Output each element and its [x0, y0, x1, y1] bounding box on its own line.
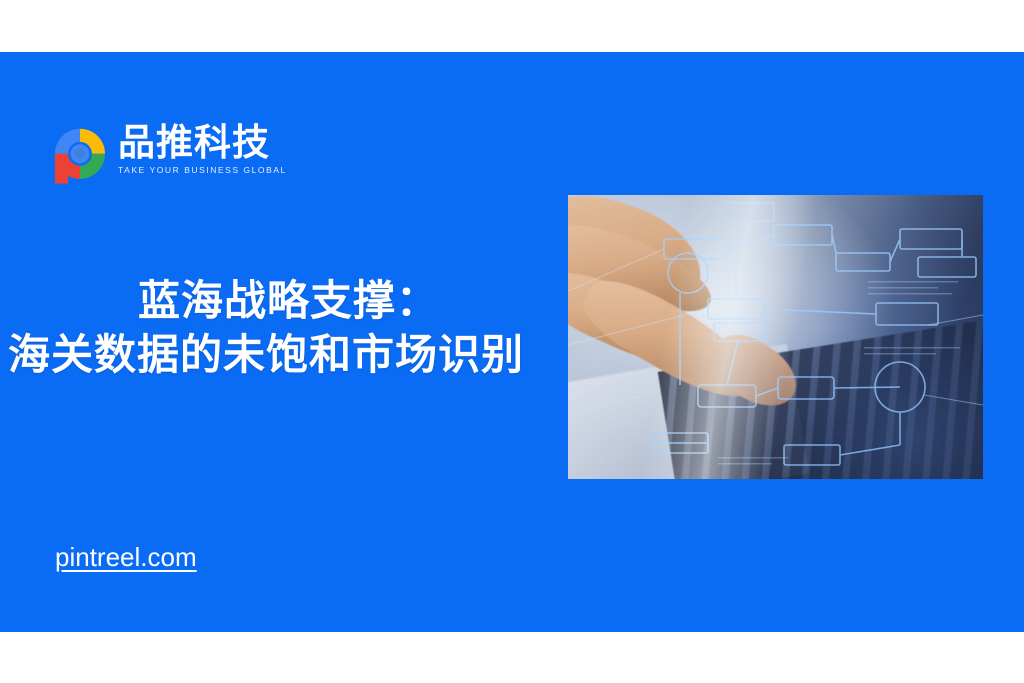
slide-headline: 蓝海战略支撑： 海关数据的未饱和市场识别 — [0, 274, 640, 382]
brand-tagline: TAKE YOUR BUSINESS GLOBAL — [118, 165, 287, 176]
headline-line-2: 海关数据的未饱和市场识别 — [0, 328, 640, 382]
brand-company-name: 品推科技 — [118, 122, 287, 164]
headline-line-1: 蓝海战略支撑： — [0, 274, 640, 328]
site-url-link[interactable]: pintreel.com — [55, 541, 197, 573]
slide-canvas: 品推科技 TAKE YOUR BUSINESS GLOBAL 蓝海战略支撑： 海… — [0, 0, 1024, 683]
brand-logo[interactable]: 品推科技 TAKE YOUR BUSINESS GLOBAL — [50, 122, 287, 186]
brand-logo-text: 品推科技 TAKE YOUR BUSINESS GLOBAL — [118, 122, 287, 176]
pintreel-circular-p-logo-icon — [50, 124, 110, 186]
